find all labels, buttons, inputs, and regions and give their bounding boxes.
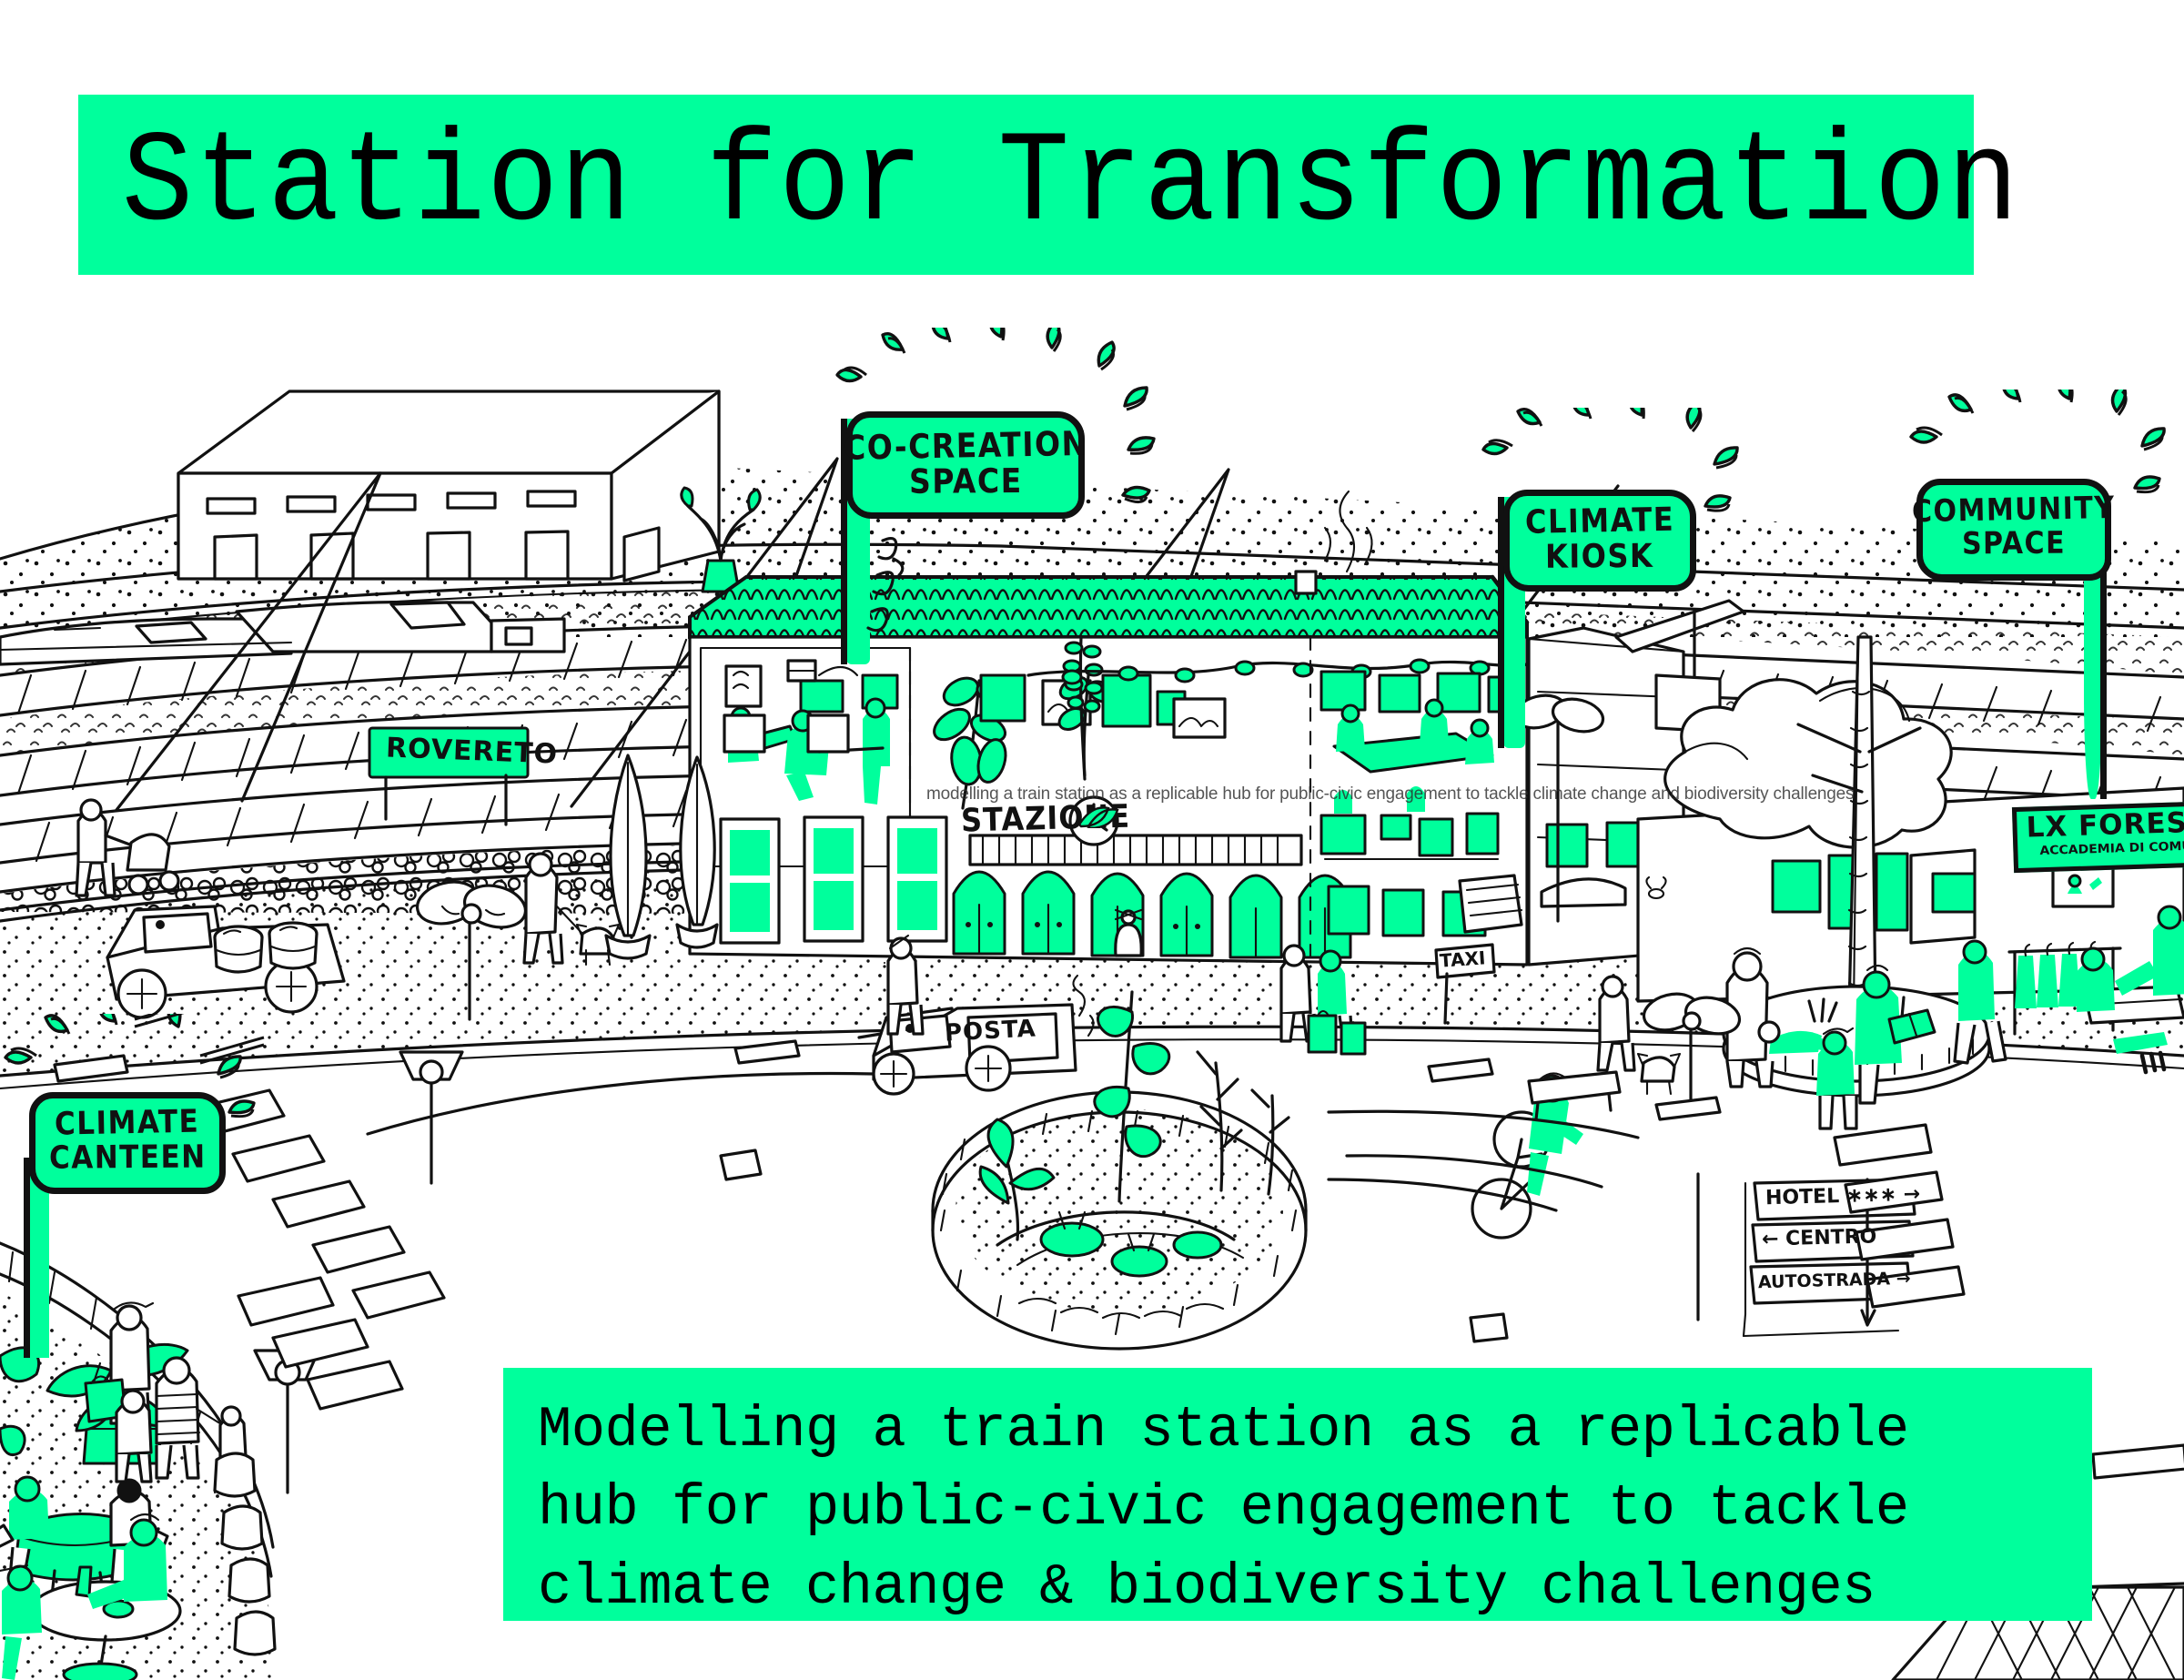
warehouse-building bbox=[178, 391, 719, 581]
platform-sign-label: ROVERETO bbox=[385, 732, 558, 770]
flag-line2-climate-canteen: CANTEEN bbox=[49, 1142, 207, 1176]
flag-plate-community-space: COMMUNITY SPACE bbox=[1916, 479, 2111, 581]
flag-line1-climate-canteen: CLIMATE bbox=[55, 1107, 200, 1141]
flag-plate-climate-canteen: CLIMATE CANTEEN bbox=[29, 1092, 226, 1194]
caption-banner: Modelling a train station as a replicabl… bbox=[503, 1368, 2092, 1621]
flag-climate-canteen[interactable]: CLIMATE CANTEEN bbox=[13, 1058, 277, 1331]
flag-line2-co-creation: SPACE bbox=[908, 463, 1022, 499]
title-banner: Station for Transformation bbox=[78, 95, 1974, 275]
flag-line1-co-creation: CO-CREATION bbox=[843, 426, 1087, 465]
post-van-label: POSTA bbox=[944, 1015, 1036, 1047]
la-foresta-title: LX FORESTX bbox=[2026, 805, 2184, 845]
flag-pole-edge-climate-canteen bbox=[24, 1158, 30, 1358]
flag-line2-community-space: SPACE bbox=[1962, 529, 2066, 561]
caption-line-2: hub for public-civic engagement to tackl… bbox=[538, 1470, 2068, 1548]
page-title: Station for Transformation bbox=[78, 120, 2020, 249]
flag-co-creation-space[interactable]: CO-CREATION SPACE bbox=[846, 364, 1137, 664]
flag-plate-co-creation: CO-CREATION SPACE bbox=[846, 411, 1085, 519]
taxi-sign-label: TAXI bbox=[1439, 946, 1486, 971]
flag-line1-community-space: COMMUNITY bbox=[1912, 493, 2116, 529]
poster-root: .ln{fill:none;stroke:#111;stroke-width:3… bbox=[0, 0, 2184, 1680]
caption-line-3: climate change & biodiversity challenges bbox=[538, 1549, 2068, 1627]
flag-line1-climate-kiosk: CLIMATE bbox=[1525, 503, 1675, 540]
flag-climate-kiosk[interactable]: CLIMATE KIOSK bbox=[1503, 446, 1758, 746]
flag-community-space[interactable]: COMMUNITY SPACE bbox=[1927, 437, 2184, 801]
flag-plate-climate-kiosk: CLIMATE KIOSK bbox=[1503, 490, 1696, 592]
road-sign-hotel: HOTEL ∗∗∗ → bbox=[1765, 1183, 1921, 1209]
road-sign-autostrada: AUTOSTRADA → bbox=[1758, 1269, 1911, 1292]
station-leaf-icon bbox=[1077, 805, 1119, 828]
flag-line2-climate-kiosk: KIOSK bbox=[1545, 540, 1654, 573]
road-sign-centro: ← CENTRO bbox=[1762, 1225, 1877, 1250]
la-foresta-sign: LX FORESTX ACCADEMIA DI COMUNITÀ bbox=[2012, 802, 2184, 873]
caption-line-1: Modelling a train station as a replicabl… bbox=[538, 1392, 2068, 1470]
flag-squiggle-co-creation bbox=[866, 528, 948, 637]
